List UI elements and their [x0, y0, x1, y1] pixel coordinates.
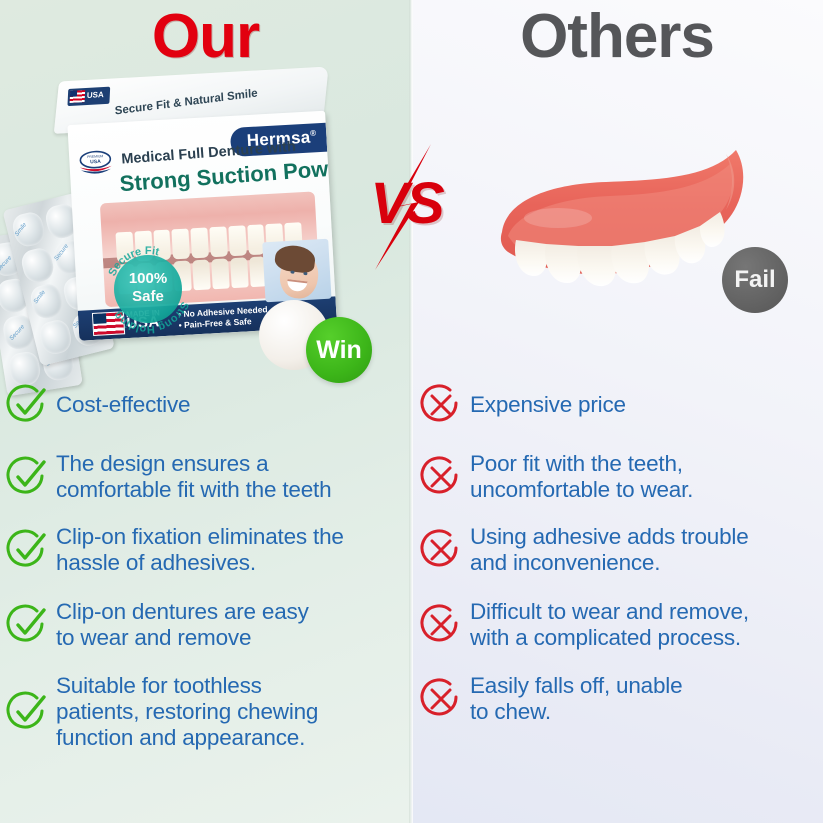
check-circle-icon	[6, 691, 48, 733]
list-item: Using adhesive adds trouble and inconven…	[420, 524, 820, 576]
pros-item-text: Suitable for toothless patients, restori…	[56, 673, 318, 751]
heading-our: Our	[0, 6, 411, 68]
cons-list: Expensive price Poor fit with the teeth,…	[420, 382, 820, 739]
usa-tab-label: USA	[87, 90, 104, 100]
registered-mark-icon: ®	[310, 129, 317, 138]
cross-circle-icon	[420, 678, 462, 720]
list-item: Clip-on dentures are easy to wear and re…	[6, 599, 406, 651]
check-circle-icon	[6, 384, 48, 426]
pros-item-text: The design ensures a comfortable fit wit…	[56, 451, 331, 503]
cons-item-text: Easily falls off, unable to chew.	[470, 673, 682, 725]
pros-item-text: Clip-on dentures are easy to wear and re…	[56, 599, 309, 651]
pros-item-text: Cost-effective	[56, 392, 190, 418]
svg-text:USA: USA	[90, 159, 101, 166]
list-item: Difficult to wear and remove, with a com…	[420, 599, 820, 651]
pros-list: Cost-effective The design ensures a comf…	[6, 382, 406, 765]
list-item: Expensive price	[420, 382, 820, 428]
win-badge: Win	[306, 317, 372, 383]
fail-label: Fail	[722, 266, 788, 294]
safe-label: Safe	[132, 288, 164, 305]
check-circle-icon	[6, 529, 48, 571]
heading-others: Others	[411, 6, 823, 68]
list-item: The design ensures a comfortable fit wit…	[6, 451, 406, 503]
cons-item-text: Expensive price	[470, 392, 626, 418]
cons-item-text: Using adhesive adds trouble and inconven…	[470, 524, 749, 576]
list-item: Easily falls off, unable to chew.	[420, 673, 820, 725]
cross-circle-icon	[420, 529, 462, 571]
cons-item-text: Difficult to wear and remove, with a com…	[470, 599, 749, 651]
pros-item-text: Clip-on fixation eliminates the hassle o…	[56, 524, 344, 576]
safe-percent: 100%	[129, 270, 167, 287]
check-circle-icon	[6, 456, 48, 498]
fail-badge: Fail	[722, 247, 788, 313]
win-label: Win	[306, 336, 372, 365]
safe-seal-badge: 100% Safe	[114, 255, 182, 323]
versus-label: VS	[345, 170, 467, 237]
smiling-woman-photo	[262, 239, 331, 303]
usa-seal-icon: PREMIUM USA	[75, 149, 116, 177]
panel-divider	[409, 0, 413, 823]
list-item: Clip-on fixation eliminates the hassle o…	[6, 524, 406, 576]
cons-item-text: Poor fit with the teeth, uncomfortable t…	[470, 451, 693, 503]
cross-circle-icon	[420, 384, 462, 426]
list-item: Poor fit with the teeth, uncomfortable t…	[420, 451, 820, 503]
list-item: Cost-effective	[6, 382, 406, 428]
versus-badge: VS	[345, 142, 467, 272]
cross-circle-icon	[420, 456, 462, 498]
made-in-usa-tab-icon: USA	[67, 87, 110, 106]
check-circle-icon	[6, 604, 48, 646]
cross-circle-icon	[420, 604, 462, 646]
comparison-poster: Our Others Secure Smile Secure Smile	[0, 0, 823, 823]
list-item: Suitable for toothless patients, restori…	[6, 673, 406, 751]
